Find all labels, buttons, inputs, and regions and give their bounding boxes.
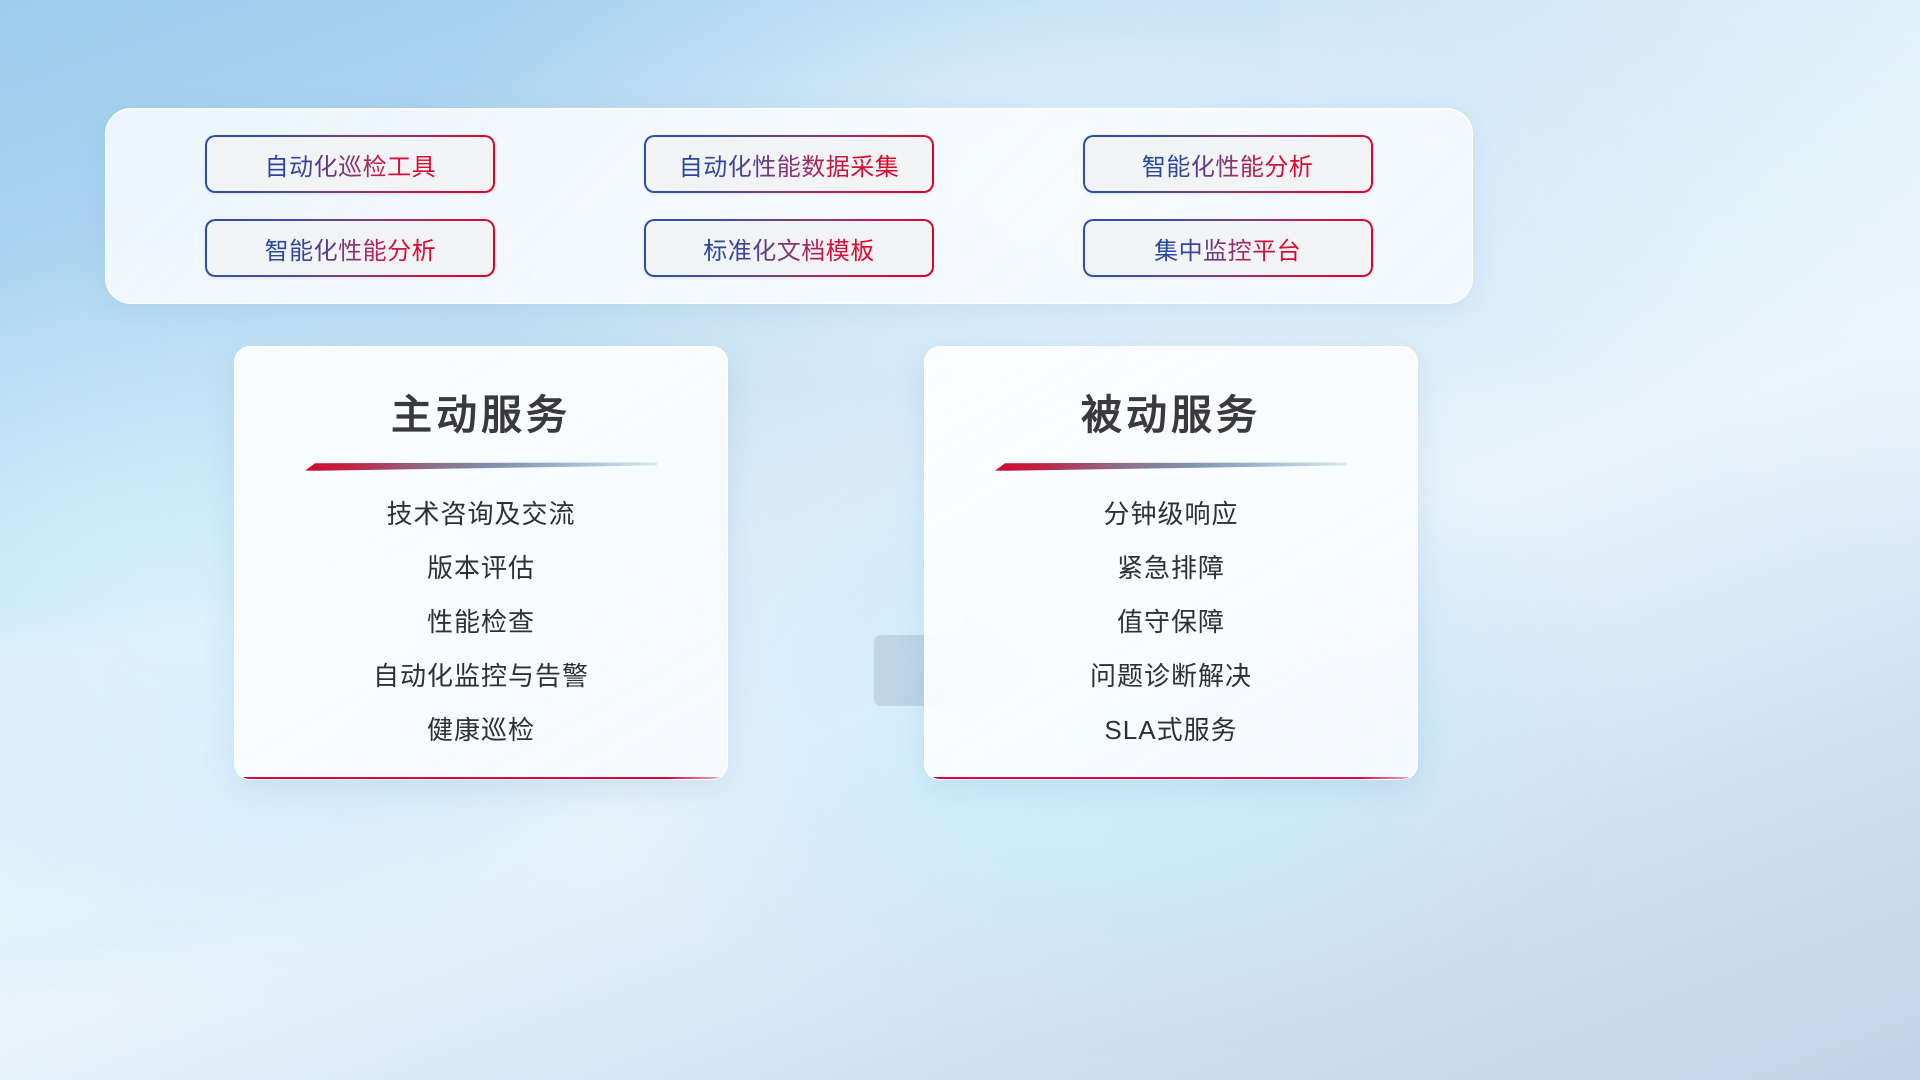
service-item: 自动化监控与告警	[373, 649, 589, 703]
capability-tag-6[interactable]: 集中监控平台	[1083, 219, 1373, 277]
capability-tag-1[interactable]: 自动化巡检工具	[205, 135, 495, 193]
service-item: 值守保障	[1117, 595, 1225, 649]
capability-panel: 自动化巡检工具 自动化性能数据采集 智能化性能分析 智能化性能分析 标准化文档模…	[105, 108, 1473, 304]
card-title: 主动服务	[391, 381, 571, 441]
capability-tag-label: 智能化性能分析	[1142, 147, 1314, 182]
service-item: 健康巡检	[427, 703, 535, 757]
service-item: 问题诊断解决	[1090, 649, 1252, 703]
service-item: SLA式服务	[1104, 703, 1237, 757]
card-divider	[995, 458, 1347, 467]
service-item-list: 技术咨询及交流 版本评估 性能检查 自动化监控与告警 健康巡检	[265, 487, 697, 757]
capability-tag-label: 智能化性能分析	[265, 231, 437, 266]
capability-tag-label: 集中监控平台	[1154, 231, 1301, 266]
capability-tag-3[interactable]: 智能化性能分析	[1083, 135, 1373, 193]
service-item: 性能检查	[427, 595, 535, 649]
capability-tag-2[interactable]: 自动化性能数据采集	[644, 135, 934, 193]
card-divider	[305, 458, 657, 467]
service-item-list: 分钟级响应 紧急排障 值守保障 问题诊断解决 SLA式服务	[955, 487, 1387, 757]
capability-tag-5[interactable]: 标准化文档模板	[644, 219, 934, 277]
service-item: 版本评估	[427, 541, 535, 595]
capability-tag-label: 自动化性能数据采集	[679, 147, 900, 182]
capability-tag-label: 自动化巡检工具	[265, 147, 437, 182]
capability-tag-label: 标准化文档模板	[703, 231, 875, 266]
service-card-proactive: 主动服务 技术咨询及交流 版本评估 性能检查	[234, 346, 728, 780]
service-item: 紧急排障	[1117, 541, 1225, 595]
service-item: 分钟级响应	[1103, 487, 1238, 541]
service-card-reactive: 被动服务 分钟级响应 紧急排障 值守保障	[924, 346, 1418, 780]
service-item: 技术咨询及交流	[386, 487, 575, 541]
capability-tag-4[interactable]: 智能化性能分析	[205, 219, 495, 277]
card-title: 被动服务	[1081, 381, 1261, 441]
